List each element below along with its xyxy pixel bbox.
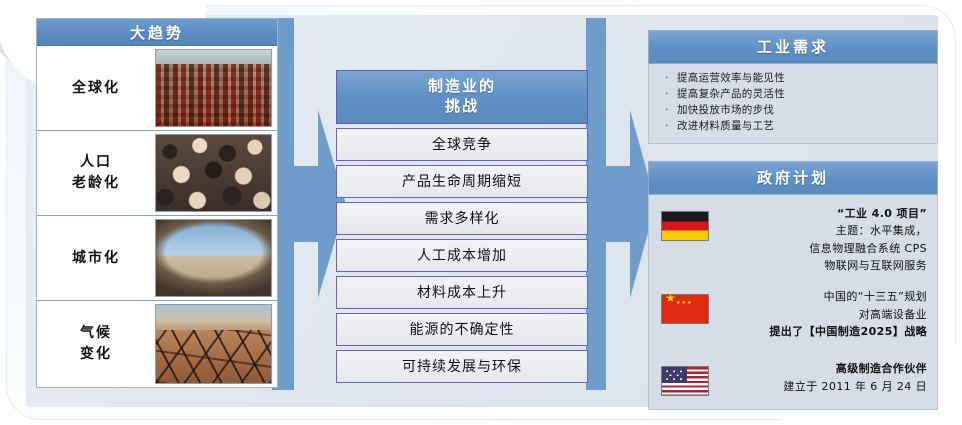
right-column: 工业需求 · 提高运营效率与能见性 · 提高复杂产品的灵活性 · 加快投放市场的…: [648, 30, 938, 382]
china-plan-text: 中国的“十三五”规划 对高端设备业 提出了【中国制造2025】战略: [709, 288, 927, 340]
challenge-item-labor-cost[interactable]: 人工成本增加: [336, 239, 588, 272]
challenge-item-material-cost[interactable]: 材料成本上升: [336, 276, 588, 309]
germany-plan-line2: 主题：水平集成，: [717, 222, 927, 239]
bullet-icon: ·: [665, 71, 677, 87]
china-flag-icon: [661, 294, 709, 324]
arrow-center-to-right: [586, 18, 656, 390]
challenge-item-energy-uncertainty[interactable]: 能源的不确定性: [336, 313, 588, 346]
industrial-demand-body: · 提高运营效率与能见性 · 提高复杂产品的灵活性 · 加快投放市场的步伐 · …: [648, 64, 938, 144]
table-row: 人口 老龄化: [37, 131, 277, 216]
trend-label-aging: 人口 老龄化: [37, 131, 155, 215]
megatrends-panel: 大趋势 全球化 人口 老龄化 城市化 气候 变化: [36, 18, 278, 388]
government-plans-body: “工业 4.0 项目” 主题：水平集成， 信息物理融合系统 CPS 物联网与互联…: [648, 195, 938, 410]
usa-plan-line2: 建立于 2011 年 6 月 24 日: [717, 378, 927, 395]
challenge-item-demand-diversification[interactable]: 需求多样化: [336, 202, 588, 235]
urban-city-skyline-photo: [155, 219, 272, 297]
trend-label-line1: 气候: [80, 323, 112, 344]
trend-label-line2: 变化: [80, 344, 112, 365]
demand-item-text: 加快投放市场的步伐: [677, 103, 774, 119]
gov-plan-row-china: 中国的“十三五”规划 对高端设备业 提出了【中国制造2025】战略: [649, 278, 937, 344]
trend-label-urbanization: 城市化: [37, 216, 155, 300]
list-item: · 提高运营效率与能见性: [649, 71, 937, 87]
germany-plan-line1: “工业 4.0 项目”: [717, 205, 927, 222]
trend-label-globalization: 全球化: [37, 46, 155, 130]
germany-flag-icon: [661, 211, 709, 241]
list-item: · 提高复杂产品的灵活性: [649, 87, 937, 103]
gov-plan-row-usa: 高级制造合作伙伴 建立于 2011 年 6 月 24 日: [649, 344, 937, 400]
usa-plan-line1: 高级制造合作伙伴: [717, 360, 927, 377]
usa-flag-icon: [661, 366, 709, 396]
industrial-demand-header: 工业需求: [648, 30, 938, 64]
china-plan-line3: 提出了【中国制造2025】战略: [717, 323, 927, 340]
usa-plan-text: 高级制造合作伙伴 建立于 2011 年 6 月 24 日: [709, 360, 927, 395]
demand-item-text: 提高复杂产品的灵活性: [677, 87, 785, 103]
trend-label-line1: 城市化: [72, 248, 120, 269]
china-plan-line1: 中国的“十三五”规划: [717, 288, 927, 305]
bullet-icon: ·: [665, 119, 677, 135]
challenges-title-line1: 制造业的: [428, 77, 496, 95]
megatrends-header: 大趋势: [37, 19, 277, 46]
bullet-icon: ·: [665, 103, 677, 119]
china-plan-line2: 对高端设备业: [717, 306, 927, 323]
germany-plan-line3: 信息物理融合系统 CPS: [717, 240, 927, 257]
germany-plan-line4: 物联网与互联网服务: [717, 257, 927, 274]
trend-label-line2: 老龄化: [72, 173, 120, 194]
bullet-icon: ·: [665, 87, 677, 103]
drought-cracked-earth-photo: [155, 304, 272, 384]
demand-item-text: 改进材料质量与工艺: [677, 119, 774, 135]
right-chevron-arrow-icon: [272, 18, 346, 390]
trend-label-climate: 气候 变化: [37, 301, 155, 387]
challenges-header: 制造业的 挑战: [336, 70, 588, 124]
challenge-item-sustainability[interactable]: 可持续发展与环保: [336, 350, 588, 383]
right-chevron-arrow-icon: [586, 18, 656, 390]
shipping-port-containers-photo: [155, 49, 272, 127]
table-row: 城市化: [37, 216, 277, 301]
gov-plan-row-germany: “工业 4.0 项目” 主题：水平集成， 信息物理融合系统 CPS 物联网与互联…: [649, 201, 937, 279]
arrow-left-to-center: [272, 18, 346, 390]
industrial-demand-list: · 提高运营效率与能见性 · 提高复杂产品的灵活性 · 加快投放市场的步伐 · …: [649, 71, 937, 135]
challenge-item-product-lifecycle[interactable]: 产品生命周期缩短: [336, 165, 588, 198]
industrial-demand-title: 工业需求: [757, 38, 829, 56]
table-row: 气候 变化: [37, 301, 277, 387]
manufacturing-challenges-panel: 制造业的 挑战 全球竞争 产品生命周期缩短 需求多样化 人工成本增加 材料成本上…: [336, 70, 588, 383]
list-item: · 改进材料质量与工艺: [649, 119, 937, 135]
challenges-title-line2: 挑战: [445, 97, 479, 115]
government-plans-title: 政府计划: [757, 169, 829, 187]
list-item: · 加快投放市场的步伐: [649, 103, 937, 119]
megatrends-title: 大趋势: [130, 22, 184, 43]
germany-plan-text: “工业 4.0 项目” 主题：水平集成， 信息物理融合系统 CPS 物联网与互联…: [709, 205, 927, 275]
challenge-item-global-competition[interactable]: 全球竞争: [336, 128, 588, 161]
government-plans-header: 政府计划: [648, 161, 938, 195]
table-row: 全球化: [37, 46, 277, 131]
slide-canvas: 大趋势 全球化 人口 老龄化 城市化 气候 变化: [0, 0, 962, 425]
aging-crowd-people-photo: [155, 134, 272, 212]
trend-label-line1: 全球化: [72, 78, 120, 99]
demand-item-text: 提高运营效率与能见性: [677, 71, 785, 87]
trend-label-line1: 人口: [80, 152, 112, 173]
